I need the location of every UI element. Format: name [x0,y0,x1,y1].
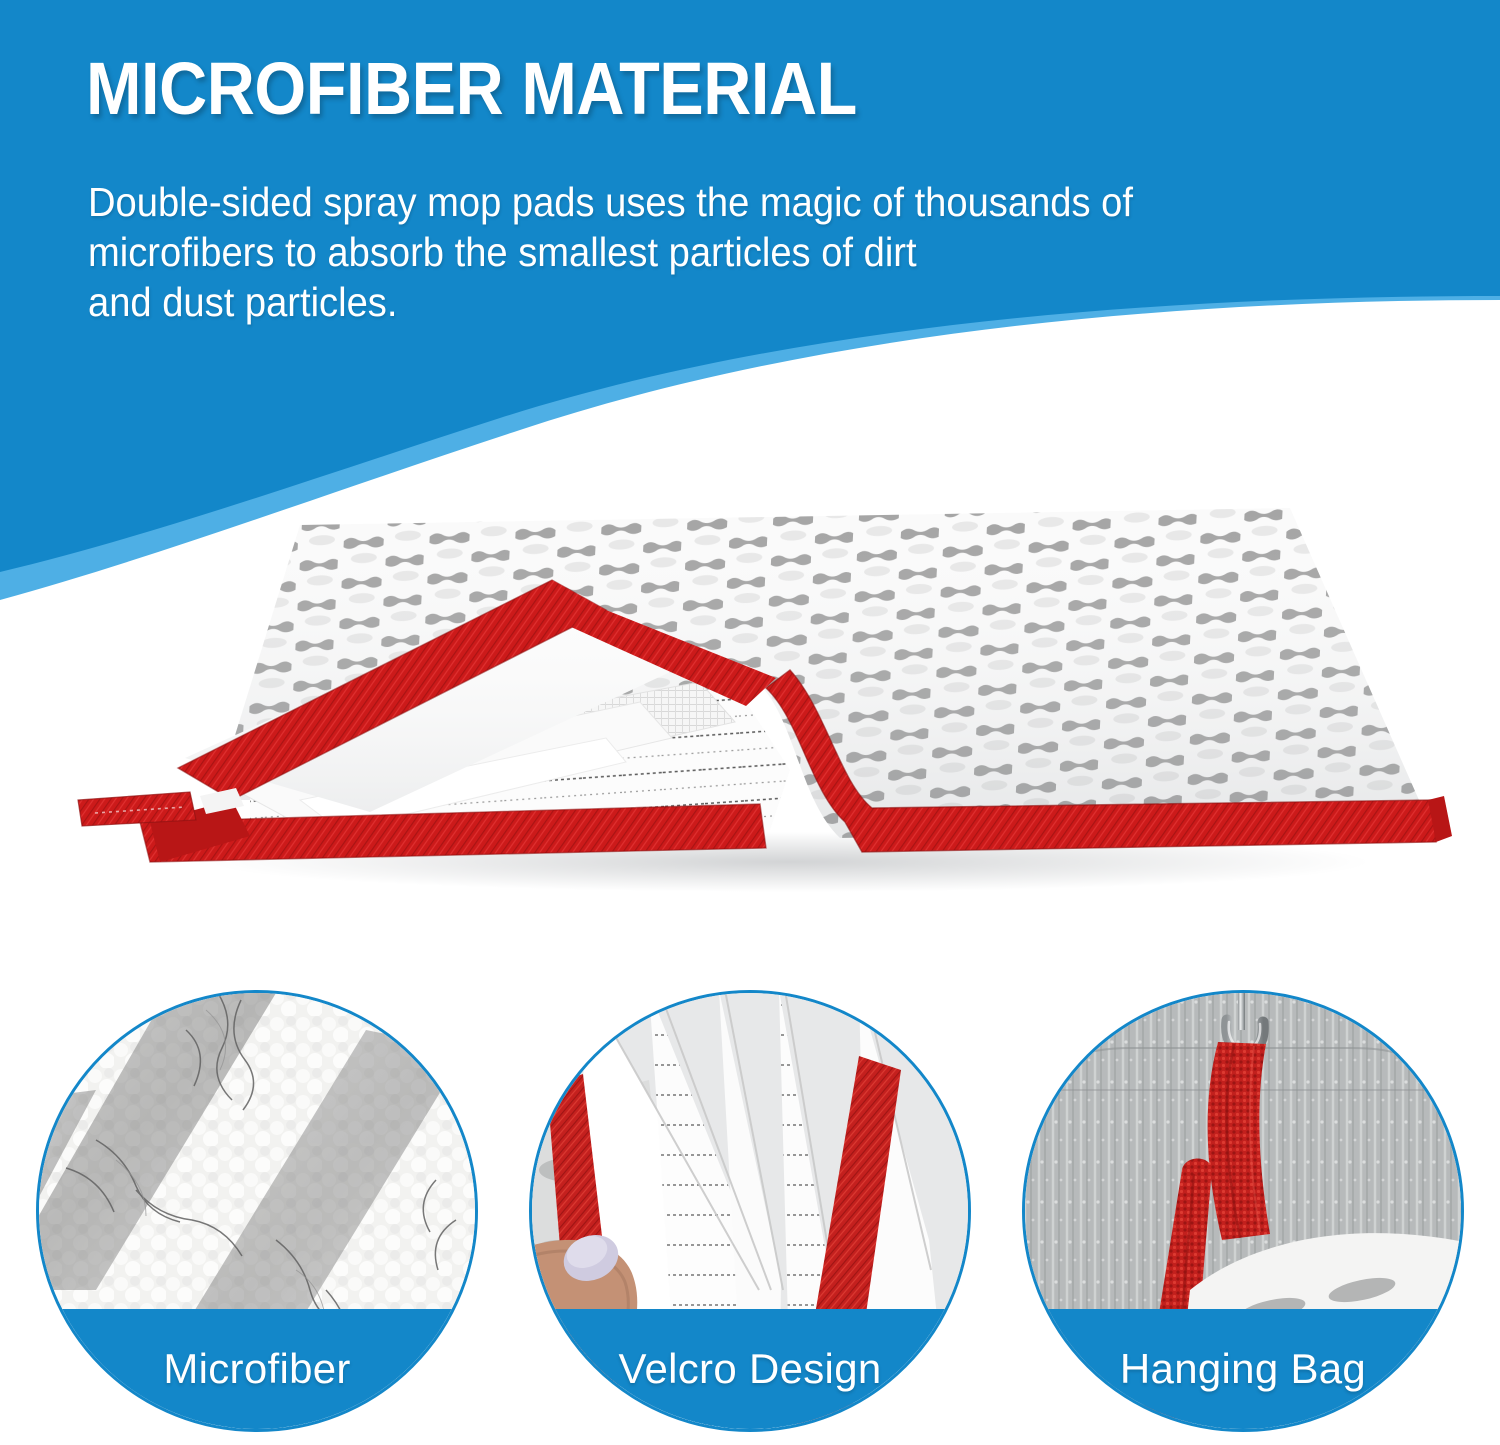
feature-label-microfiber: Microfiber [163,1348,350,1390]
feature-label-velcro-design: Velcro Design [618,1348,881,1390]
feature-caption-band: Velcro Design [532,1309,968,1429]
feature-card-hanging-bag[interactable]: Hanging Bag [1022,990,1464,1432]
page-title: MICROFIBER MATERIAL [86,52,857,126]
feature-label-hanging-bag: Hanging Bag [1120,1348,1366,1390]
pad-fringe [200,788,244,814]
feature-caption-band: Microfiber [39,1309,475,1429]
feature-circle-frame: Hanging Bag [1022,990,1464,1432]
feature-card-velcro-design[interactable]: Velcro Design [529,990,971,1432]
header-text-block: MICROFIBER MATERIAL Double-sided spray m… [0,0,1500,420]
page-subtitle: Double-sided spray mop pads uses the mag… [88,177,1390,327]
hero-product-image [0,470,1500,940]
feature-circle-frame: Velcro Design [529,990,971,1432]
feature-circle-frame: Microfiber [36,990,478,1432]
feature-circle-row: Microfiber [0,990,1500,1440]
feature-caption-band: Hanging Bag [1025,1309,1461,1429]
feature-card-microfiber[interactable]: Microfiber [36,990,478,1432]
